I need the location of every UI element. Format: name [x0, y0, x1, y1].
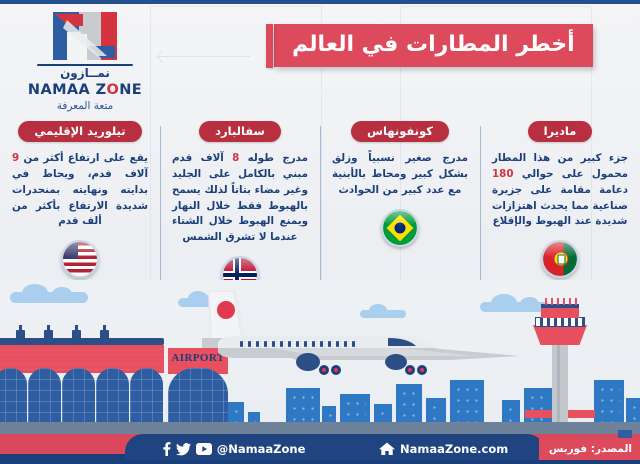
desc-before: مدرج صغير نسبياً وزلق بشكل كبير ومحاط با… — [332, 152, 468, 196]
website-label: NamaaZone.com — [400, 442, 508, 456]
source-chip — [618, 430, 632, 438]
desc-number: 180 — [492, 168, 514, 180]
airport-description: مدرج طوله 8 آلاف قدم مبني بالكامل على ال… — [168, 151, 312, 247]
airport-card-0[interactable]: ماديرا جزء كبير من هذا المطار محمول على … — [480, 120, 640, 295]
city-building — [594, 380, 624, 428]
airport-name-badge: ماديرا — [528, 121, 593, 142]
desc-after: آلاف قدم، ويحاط في بدايته ونهايته بمنحدر… — [12, 168, 148, 228]
tower-cab — [533, 325, 587, 345]
control-tower — [525, 298, 595, 418]
social-handle-group[interactable]: @NamaaZone — [162, 442, 306, 456]
logo-wordmark-o: O — [107, 82, 120, 98]
page-title: أخطر المطارات في العالم — [274, 24, 593, 67]
desc-before: مدرج طوله — [239, 152, 308, 164]
airport-name-badge: كونفونهاس — [351, 121, 449, 142]
title-banner-wrap: أخطر المطارات في العالم — [274, 24, 593, 67]
airport-description: جزء كبير من هذا المطار محمول على حوالي 1… — [488, 151, 632, 231]
usa-flag-icon — [61, 240, 99, 278]
tower-top — [541, 308, 579, 318]
cloud-icon — [10, 292, 88, 303]
airport-name-badge: تيلوريد الإقليمي — [18, 121, 141, 142]
title-banner-tab — [266, 24, 273, 68]
home-icon — [379, 442, 395, 456]
logo-wordmark-pre: NAMAA Z — [28, 82, 107, 98]
twitter-icon — [176, 443, 191, 456]
tower-windows — [535, 317, 585, 327]
footer-base-bar — [0, 460, 640, 464]
airport-name-badge: سفالبارد — [199, 121, 281, 142]
portugal-flag-icon — [541, 240, 579, 278]
desc-after: آلاف قدم مبني بالكامل على الجليد وغير مض… — [172, 152, 308, 244]
terminal-roof — [0, 338, 164, 345]
logo-wordmark: NAMAA ZONE — [22, 83, 148, 98]
background-arrow-mark — [158, 56, 250, 57]
column-divider — [160, 126, 161, 284]
logo-wordmark-post: NE — [119, 82, 142, 98]
brazil-flag-icon — [381, 209, 419, 247]
airplane-illustration — [200, 286, 530, 396]
source-label: المصدر: فوربس — [539, 439, 640, 460]
social-handle-label: @NamaaZone — [217, 442, 306, 456]
infographic-canvas: نمــازون NAMAA ZONE متعة المعرفة أخطر ال… — [0, 0, 640, 464]
tower-shaft — [552, 344, 568, 422]
airport-card-2[interactable]: سفالبارد مدرج طوله 8 آلاف قدم مبني بالكا… — [160, 120, 320, 295]
desc-after: دعامة مقامة على جزيرة صناعية مما يحدث اه… — [492, 184, 628, 228]
desc-before: يقع على ارتفاع أكثر من — [19, 152, 148, 164]
airport-cards: ماديرا جزء كبير من هذا المطار محمول على … — [0, 120, 640, 295]
website-group[interactable]: NamaaZone.com — [379, 442, 508, 456]
column-divider — [320, 126, 321, 284]
airport-description: مدرج صغير نسبياً وزلق بشكل كبير ومحاط با… — [328, 151, 472, 199]
logo-arabic-name: نمــازون — [22, 67, 148, 80]
airport-card-3[interactable]: تيلوريد الإقليمي يقع على ارتفاع أكثر من … — [0, 120, 160, 295]
airport-card-1[interactable]: كونفونهاس مدرج صغير نسبياً وزلق بشكل كبي… — [320, 120, 480, 295]
brand-logo[interactable]: نمــازون NAMAA ZONE متعة المعرفة — [22, 10, 148, 112]
footer-bar: @NamaaZone NamaaZone.com المصدر: فوربس — [0, 430, 640, 464]
airport-description: يقع على ارتفاع أكثر من 9 آلاف قدم، ويحاط… — [8, 151, 152, 231]
terminal-arches — [0, 368, 164, 428]
namaa-zone-logo-mark-icon — [49, 10, 121, 62]
column-divider — [480, 126, 481, 284]
youtube-icon — [196, 443, 212, 455]
logo-tagline: متعة المعرفة — [22, 100, 148, 112]
facebook-icon — [162, 442, 171, 456]
